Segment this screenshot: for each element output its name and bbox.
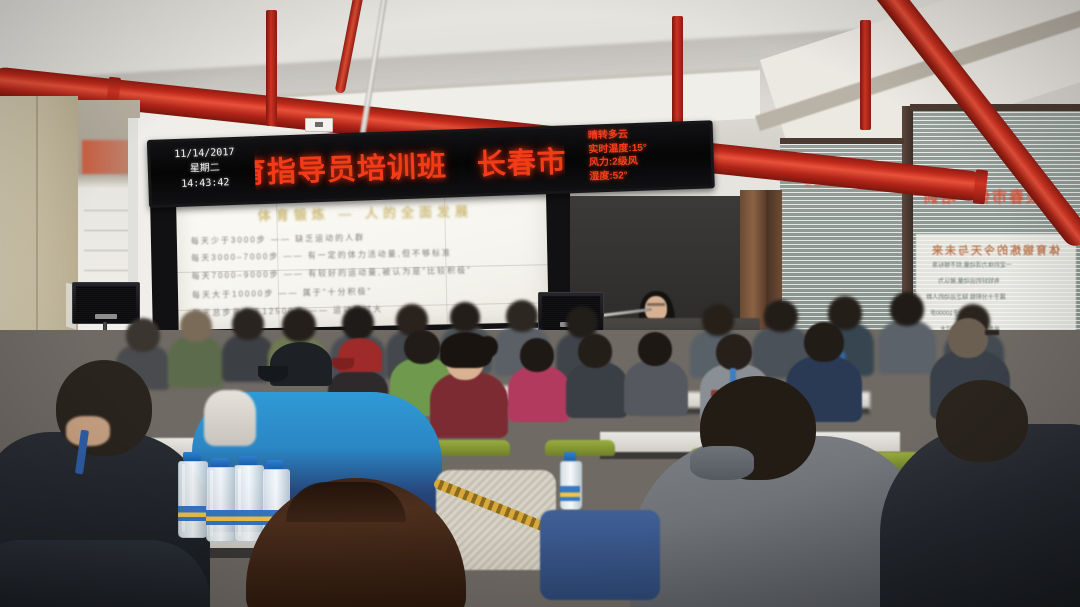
water-bottle	[560, 452, 580, 510]
bottle-highlight	[210, 470, 213, 536]
bottle-label	[560, 486, 580, 501]
wall-fixture	[305, 118, 333, 132]
screen-line: 每天大于10000步 —— 属于"十分积极"	[192, 286, 373, 301]
cap-brim	[332, 358, 354, 370]
attendee-head	[764, 300, 798, 332]
water-bottle	[206, 458, 234, 542]
attendee-head	[520, 338, 554, 372]
bottle-highlight	[238, 468, 241, 536]
hair-crown	[286, 482, 406, 522]
led-datetime: 11/14/2017 星期二 14:43:42	[158, 144, 252, 192]
attendee-head	[180, 310, 212, 342]
attendee-head	[804, 322, 844, 362]
glass-frame-top-left	[780, 138, 904, 144]
cap-brim	[258, 366, 288, 382]
attendee-head	[282, 308, 316, 342]
bottle-label	[206, 510, 234, 525]
attendee-torso	[878, 320, 936, 374]
bottle-cap	[564, 452, 577, 461]
reflection-screen-title: 体育锻炼的今天与未来	[930, 242, 1060, 258]
attendee-torso	[624, 360, 688, 416]
pipe-hanger	[860, 20, 871, 130]
led-time: 14:43:42	[159, 174, 251, 192]
hair-bun	[478, 336, 498, 358]
reflection-screen-line: 属于十分积极 缺乏运动的人群	[926, 292, 1006, 301]
white-bag	[204, 390, 256, 446]
bottle-label	[234, 510, 262, 525]
attendee-head	[716, 334, 752, 370]
chair	[545, 440, 615, 456]
water-bottle	[178, 452, 206, 538]
bottle-cap	[183, 452, 201, 461]
attendee-head	[702, 304, 734, 336]
reflection-screen-line: 有较好的运动量,被认为	[938, 276, 1000, 285]
attendee-torso	[566, 362, 628, 418]
pipe-hanger	[266, 10, 277, 126]
attendee-head	[506, 300, 538, 332]
attendee-head	[126, 318, 160, 352]
led-weather-block: 晴转多云 实时温度:15° 风力:2级风 湿度:52°	[588, 126, 708, 184]
reflection-screen-line: 一定的体力活动量,但不够标准	[932, 260, 1012, 269]
attendee-head	[890, 292, 924, 326]
attendee-head	[232, 308, 264, 340]
presenter-glasses	[647, 303, 665, 306]
speaker-badge	[95, 314, 117, 319]
eyeglasses	[985, 330, 999, 335]
screen-line: 每天3000–7000步 —— 有一定的体力活动量,但不够标准	[191, 247, 452, 263]
bottle-label	[178, 506, 206, 521]
bottle-cap	[211, 458, 229, 467]
lecture-hall-photo: 长春市体 培训 风力 温度 体育锻炼的今天与未来 一定的体力活动量,但不够标准 …	[0, 0, 1080, 607]
water-bottle	[234, 456, 262, 542]
attendee-head	[936, 380, 1028, 462]
chair	[430, 440, 510, 456]
screen-line: 每天少于3000步 —— 缺乏运动的人群	[191, 232, 365, 247]
attendee-head	[404, 330, 440, 364]
bottle-cap	[239, 456, 257, 465]
sweater-collar	[690, 446, 754, 480]
attendee-torso	[508, 366, 570, 422]
foreground-shoulder	[0, 540, 210, 607]
left-reflection-red-text	[82, 140, 134, 174]
screen-line: 每天7000–9000步 —— 有较好的运动量,被认为是"比较积极"	[192, 265, 473, 282]
speaker-cabinet	[72, 282, 140, 324]
attendee-torso	[168, 336, 224, 388]
attendee-head	[342, 306, 374, 340]
blue-chair-cushion	[540, 510, 660, 600]
bottle-cap	[267, 460, 284, 469]
attendee-torso	[430, 372, 508, 438]
bottle-highlight	[182, 464, 185, 532]
attendee-head	[948, 318, 988, 358]
attendee-head	[578, 334, 612, 368]
attendee-head	[638, 332, 672, 366]
attendee-head	[450, 302, 480, 332]
